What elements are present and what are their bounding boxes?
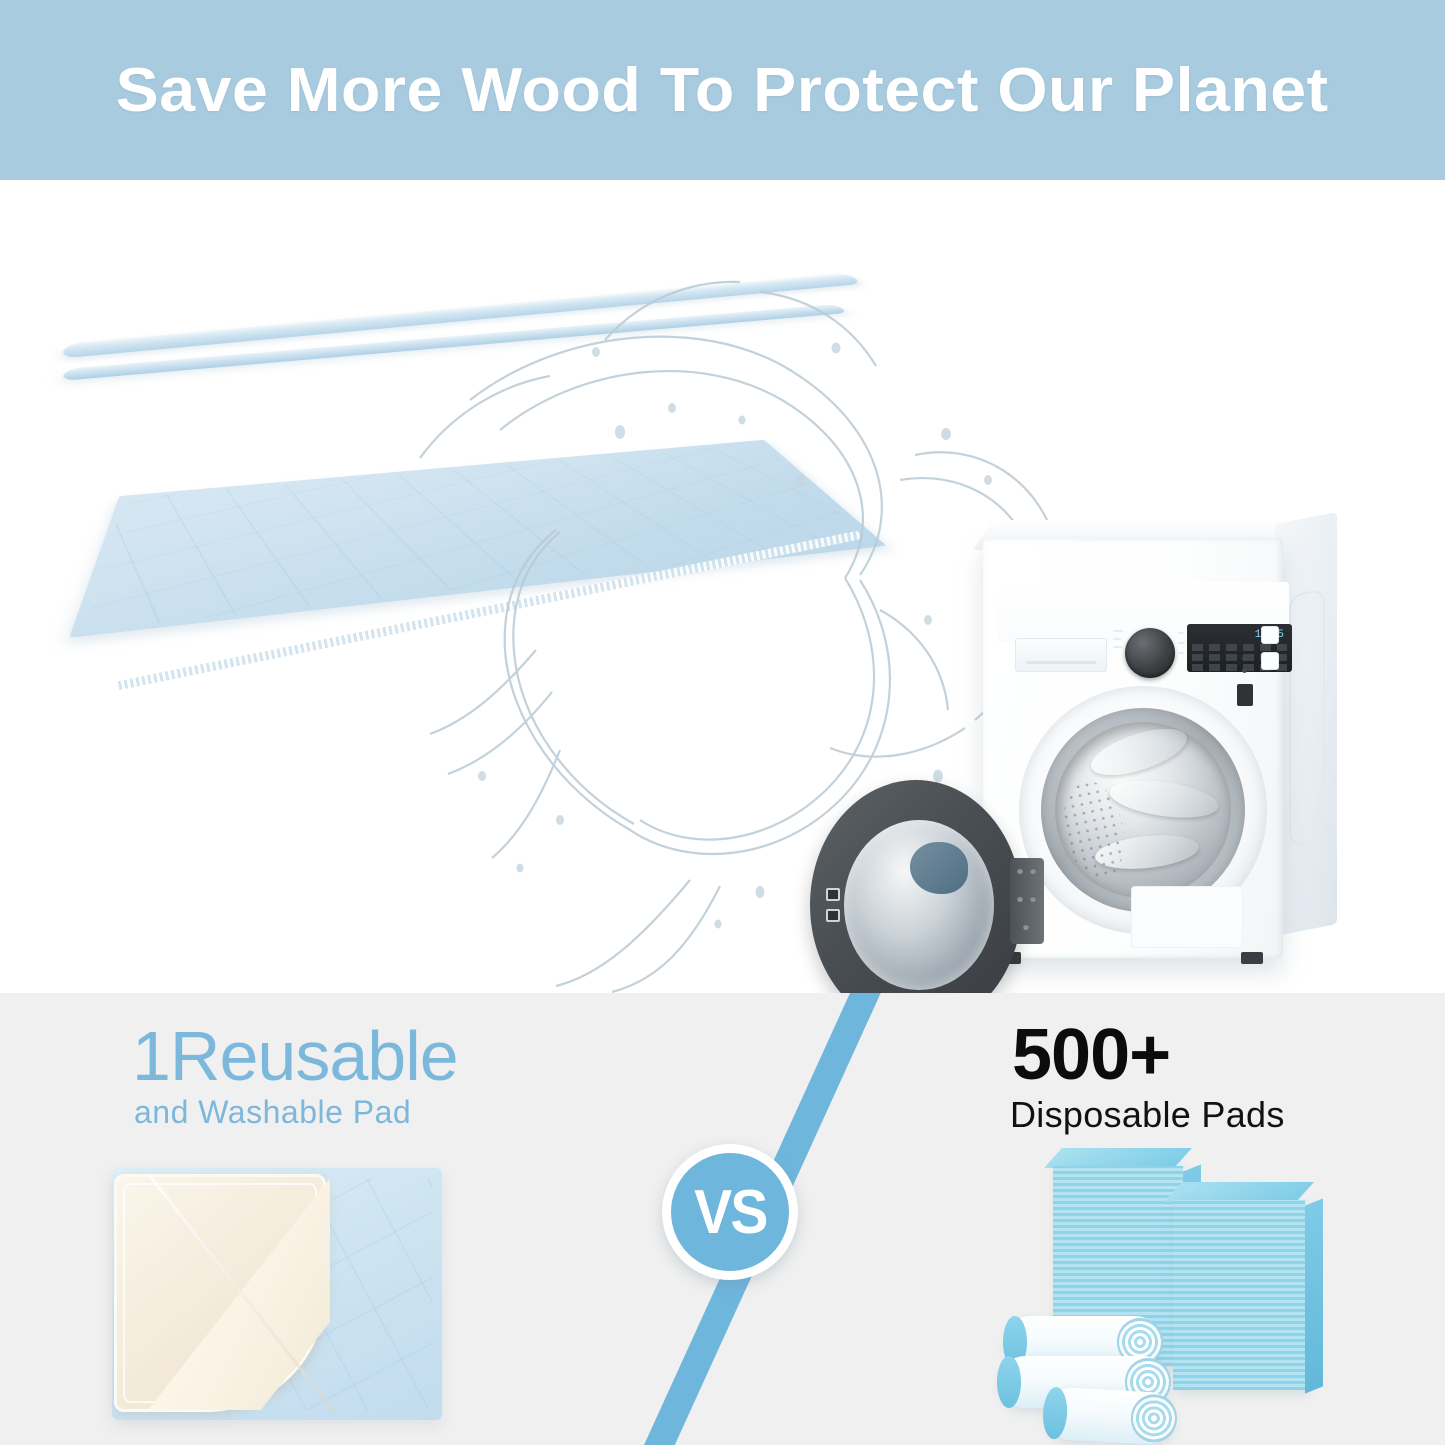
reusable-pad-image (112, 1168, 442, 1420)
washer-door-latch (1237, 684, 1253, 706)
left-headline: 1Reusable (132, 1021, 458, 1091)
hinge-dot-3 (1017, 896, 1023, 902)
left-subhead: and Washable Pad (134, 1096, 411, 1128)
page-title: Save More Wood To Protect Our Planet (116, 55, 1329, 126)
door-clips (826, 888, 842, 922)
door-clip-bottom (826, 909, 840, 922)
washer-panel-text-3 (1113, 646, 1122, 648)
hinge-dot-4 (1030, 896, 1036, 902)
hinge-dot-2 (1030, 868, 1036, 874)
hinge-dot-1 (1017, 868, 1023, 874)
washer-indicator-dot-2 (1242, 668, 1247, 673)
washer-drawer-slot (1026, 661, 1096, 664)
rolled-pad-2-cap (997, 1356, 1021, 1408)
washer-drum-ring (1041, 708, 1245, 912)
pad-stack-b (1173, 1200, 1305, 1390)
vs-badge-label: VS (694, 1177, 766, 1248)
washer-side-groove (1289, 588, 1325, 847)
door-glass-reflection (910, 842, 968, 894)
pad-stack-a-top (1044, 1148, 1192, 1168)
washer-drum (1055, 722, 1231, 898)
right-subhead: Disposable Pads (1010, 1097, 1285, 1133)
pad-stack-b-top (1164, 1182, 1314, 1202)
door-hinge (1010, 858, 1044, 944)
rolled-pad-3 (1044, 1387, 1177, 1445)
washer-indicator-dot-1 (1242, 656, 1247, 661)
washer-program-dial[interactable] (1125, 628, 1175, 678)
washer-detergent-drawer (1015, 638, 1107, 672)
washer-panel-text-4 (1178, 632, 1184, 634)
washer-side-panel (1275, 512, 1337, 936)
pad-quilt-pattern (80, 443, 876, 632)
hinge-dot-5 (1023, 924, 1029, 930)
comparison-column-left: 1Reusable and Washable Pad (0, 993, 600, 1445)
washer-panel-text-1 (1113, 630, 1123, 632)
washer-open-door[interactable] (810, 780, 1040, 993)
folded-pad-image (88, 288, 928, 748)
washer-front-label (1131, 886, 1243, 948)
washer-panel-text-6 (1178, 652, 1184, 654)
drum-fin-1 (1086, 722, 1192, 785)
drum-fin-2 (1107, 775, 1221, 824)
washer-panel-text-2 (1113, 638, 1121, 640)
pad-stack-b-side (1305, 1198, 1323, 1393)
disposable-pads-image (1005, 1138, 1325, 1428)
washer-foot-right (1241, 952, 1263, 964)
washer-power-button[interactable] (1261, 626, 1279, 644)
door-clip-top (826, 888, 840, 901)
vs-badge: VS (662, 1144, 798, 1280)
washer-lcd-row-1 (1192, 644, 1287, 651)
washer-control-panel: 1:25 (997, 582, 1289, 642)
right-headline: 500+ (1012, 1019, 1170, 1091)
door-ring (810, 780, 1022, 993)
door-glass (844, 820, 994, 990)
hero-section: 1:25 (0, 180, 1445, 993)
washer-start-button[interactable] (1261, 652, 1279, 670)
header-banner: Save More Wood To Protect Our Planet (0, 0, 1445, 180)
washer-panel-text-5 (1178, 642, 1185, 644)
